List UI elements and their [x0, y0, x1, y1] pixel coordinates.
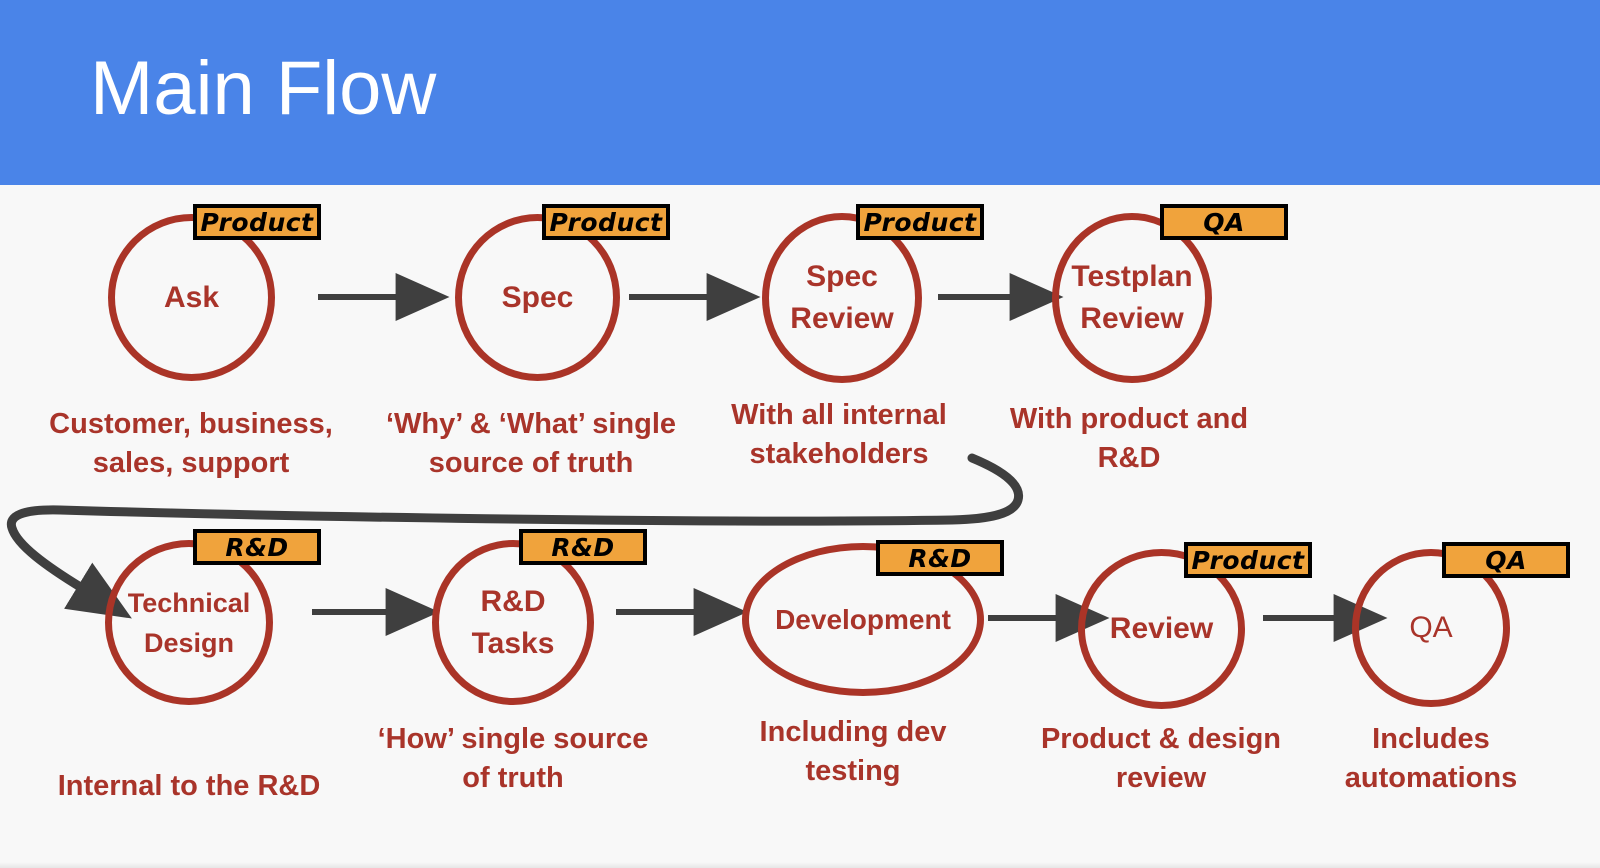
caption-line: Customer, business,: [30, 405, 352, 444]
tag-spec-review: Product: [856, 204, 984, 240]
slide-bottom-shadow: [0, 862, 1600, 868]
caption-line: With all internal: [678, 396, 1000, 435]
caption-line: source of truth: [370, 444, 692, 483]
node-ask-label-line: Ask: [164, 277, 219, 319]
node-qa-label-line: QA: [1409, 607, 1452, 649]
caption-qa: Includes automations: [1270, 720, 1592, 798]
slide-canvas: Main Flow: [0, 0, 1600, 868]
tag-spec: Product: [542, 204, 670, 240]
caption-line: With product and: [968, 400, 1290, 439]
caption-line: R&D: [968, 439, 1290, 478]
caption-line: ‘Why’ & ‘What’ single: [370, 405, 692, 444]
caption-line: automations: [1270, 759, 1592, 798]
tag-development: R&D: [876, 540, 1004, 576]
tag-rnd-tasks: R&D: [519, 529, 647, 565]
node-rnd-tasks-label-line: R&D: [481, 581, 546, 623]
caption-ask: Customer, business, sales, support: [30, 405, 352, 483]
caption-spec-review: With all internal stakeholders: [678, 396, 1000, 474]
node-review-label-line: Review: [1110, 608, 1213, 650]
node-spec-review-label-line: Review: [790, 298, 893, 340]
tag-ask: Product: [193, 204, 321, 240]
caption-testplan-review: With product and R&D: [968, 400, 1290, 478]
node-development-label-line: Development: [775, 599, 951, 641]
caption-line: Including dev: [692, 713, 1014, 752]
node-spec-review-label-line: Spec: [806, 256, 878, 298]
caption-line: of truth: [352, 759, 674, 798]
caption-spec: ‘Why’ & ‘What’ single source of truth: [370, 405, 692, 483]
node-testplan-review-label-line: Review: [1080, 298, 1183, 340]
caption-line: ‘How’ single source: [352, 720, 674, 759]
node-spec-label-line: Spec: [502, 277, 574, 319]
caption-rnd-tasks: ‘How’ single source of truth: [352, 720, 674, 798]
tag-qa: QA: [1442, 542, 1570, 578]
node-rnd-tasks-label-line: Tasks: [472, 623, 555, 665]
node-technical-design-label-line: Design: [144, 623, 234, 663]
caption-line: Includes: [1270, 720, 1592, 759]
tag-testplan-review: QA: [1160, 204, 1288, 240]
caption-line: stakeholders: [678, 435, 1000, 474]
page-title: Main Flow: [90, 42, 436, 136]
caption-technical-design: Internal to the R&D: [28, 767, 350, 806]
caption-line: sales, support: [30, 444, 352, 483]
caption-line: Internal to the R&D: [28, 767, 350, 806]
caption-line: testing: [692, 752, 1014, 791]
node-technical-design-label-line: Technical: [128, 583, 251, 623]
tag-review: Product: [1184, 542, 1312, 578]
node-testplan-review-label-line: Testplan: [1071, 256, 1192, 298]
tag-technical-design: R&D: [193, 529, 321, 565]
caption-development: Including dev testing: [692, 713, 1014, 791]
